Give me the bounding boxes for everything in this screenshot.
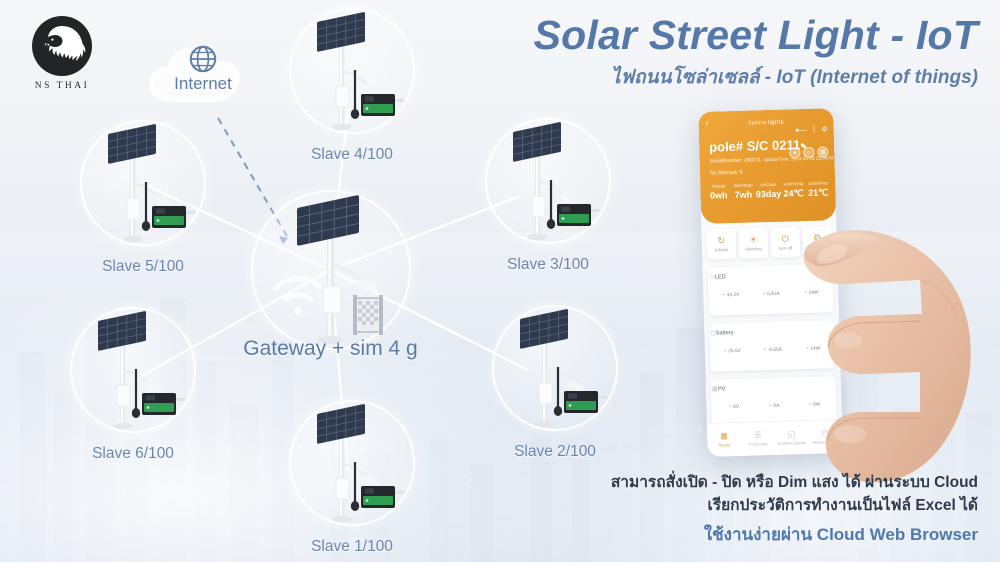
- gateway-node[interactable]: Gateway + sim 4 g: [243, 190, 418, 370]
- nav-status[interactable]: ▦ Status: [707, 432, 741, 448]
- slave-art: [277, 400, 427, 540]
- controller-board-icon: [361, 486, 404, 508]
- stat-charge: charge0wh: [706, 183, 731, 202]
- card-values: ⚭0V ⚭0A ⚭0W: [713, 402, 834, 410]
- dimming-icon: ☀: [749, 235, 757, 244]
- battery-icon: ◫: [710, 330, 716, 337]
- current-icon: ⚭: [768, 404, 772, 409]
- network-diagram: Internet: [0, 0, 660, 562]
- slave-node-2[interactable]: Slave 2/100: [480, 305, 630, 475]
- slave-node-5[interactable]: Slave 5/100: [68, 120, 218, 290]
- led-icon: ☃: [709, 274, 715, 281]
- card-battery[interactable]: ◫ battery ⚭25.5V ⚭-0.55A ⚭14W: [709, 320, 835, 371]
- dimming-button[interactable]: ☀ dimming: [738, 228, 768, 259]
- slave-node-3[interactable]: Slave 3/100: [473, 118, 623, 288]
- globe-icon: [188, 44, 218, 74]
- card-title: battery: [716, 330, 733, 336]
- gear-icon[interactable]: ⚙: [821, 125, 828, 133]
- slave-label: Slave 6/100: [92, 445, 174, 463]
- voltage-icon: ⚭: [723, 349, 727, 354]
- wifi-icon: [276, 278, 320, 300]
- nav-parameter[interactable]: ☰ Parameter: [741, 431, 775, 447]
- stat-ambtemp: ambTemp21℃: [806, 180, 831, 199]
- internet-label: Internet: [140, 74, 266, 94]
- bottom-nav: ▦ Status ☰ Parameter ◱ Runtime Details ◴…: [707, 419, 843, 457]
- internet-node: Internet: [140, 30, 266, 114]
- poster-canvas: NS THAI Solar Street Light - IoT ไฟถนนโซ…: [0, 0, 1000, 562]
- page-subtitle: ไฟถนนโซล่าเซลล์ - IoT (Internet of thing…: [611, 62, 978, 92]
- controller-board-icon: [557, 204, 600, 226]
- bulb-icon[interactable]: ☼: [803, 147, 814, 158]
- stat-discharge: discharge7wh: [731, 182, 756, 201]
- power-icon: ⚭: [808, 403, 812, 408]
- card-values: ⚭33.2V ⚭0.41A ⚭14W: [710, 290, 831, 298]
- nav-historical-data[interactable]: ◴ Historical Data: [808, 429, 842, 445]
- slave-art: [58, 307, 208, 447]
- copy-line-3: ใช้งานง่ายผ่าน Cloud Web Browser: [611, 521, 978, 548]
- current-icon: ⚭: [762, 292, 766, 297]
- controller-board-icon: [564, 391, 607, 413]
- solar-icon: ▦: [712, 386, 718, 393]
- stat-rundays: runDays93day: [755, 182, 781, 201]
- refresh-icon: ↻: [717, 236, 725, 245]
- power-icon: ⚭: [804, 291, 808, 296]
- slave-label: Slave 5/100: [102, 258, 184, 276]
- slave-art: [68, 120, 218, 260]
- card-title: PV: [718, 386, 726, 392]
- gear-icon: ⚙: [813, 234, 821, 243]
- app-header: ‹ sunna lights ●— ⎰ ⚙ pole# S/C 0211✎ Se…: [698, 108, 836, 224]
- header-badges: ● ☼ ▦: [789, 146, 828, 158]
- slave-label: Slave 1/100: [311, 538, 393, 556]
- slave-label: Slave 4/100: [311, 146, 393, 164]
- current-icon: ⚭: [763, 348, 767, 353]
- slave-node-6[interactable]: Slave 6/100: [58, 307, 208, 477]
- phone-screen: ‹ sunna lights ●— ⎰ ⚙ pole# S/C 0211✎ Se…: [698, 108, 843, 457]
- signal-icon: ●—: [795, 126, 806, 133]
- battery-icon: ⎰: [810, 125, 817, 135]
- power-icon: ⚭: [805, 347, 809, 352]
- slave-art: [480, 305, 630, 445]
- grid-icon: ▦: [707, 432, 741, 441]
- chart-icon: ◱: [775, 430, 809, 439]
- stat-worktemp: workTemp24℃: [781, 181, 806, 200]
- slave-node-1[interactable]: Slave 1/100: [277, 400, 427, 562]
- status-icons: ●— ⎰ ⚙: [795, 124, 828, 135]
- slave-node-4[interactable]: Slave 4/100: [277, 8, 427, 178]
- list-icon: ☰: [741, 431, 775, 440]
- controller-board-icon: [152, 206, 195, 228]
- action-buttons: ↻ refresh ☀ dimming ⏻ turn off ⚙ setting…: [707, 226, 833, 259]
- slave-art: [473, 118, 623, 258]
- cabinet-icon: [353, 295, 383, 335]
- clock-icon: ◴: [808, 429, 842, 438]
- card-values: ⚭25.5V ⚭-0.55A ⚭14W: [712, 346, 833, 354]
- grid-icon[interactable]: ▦: [817, 146, 828, 157]
- gateway-art: [243, 190, 418, 355]
- location-icon[interactable]: ●: [789, 147, 800, 158]
- gateway-label: Gateway + sim 4 g: [243, 337, 418, 361]
- remark[interactable]: No Remark ✎: [710, 170, 743, 177]
- voltage-icon: ⚭: [722, 293, 726, 298]
- stats-row: charge0wh discharge7wh runDays93day work…: [706, 180, 830, 201]
- slave-label: Slave 3/100: [507, 256, 589, 274]
- nav-runtime-details[interactable]: ◱ Runtime Details: [775, 430, 809, 446]
- slave-art: [277, 8, 427, 148]
- card-title: LED: [715, 274, 726, 280]
- voltage-icon: ⚭: [728, 405, 732, 410]
- card-led[interactable]: ☃ LED ⚭33.2V ⚭0.41A ⚭14W: [708, 264, 834, 315]
- copy-line-1: สามารถสั่งเปิด - ปิด หรือ Dim แสง ได้ ผ่…: [611, 472, 978, 494]
- controller-board-icon: [142, 393, 185, 415]
- serial-number: SerialNumber: 290211: [710, 157, 762, 164]
- refresh-button[interactable]: ↻ refresh: [707, 229, 737, 260]
- phone-mockup: ‹ sunna lights ●— ⎰ ⚙ pole# S/C 0211✎ Se…: [698, 108, 843, 457]
- power-icon: ⏻: [782, 234, 789, 243]
- slave-label: Slave 2/100: [514, 443, 596, 461]
- controller-board-icon: [361, 94, 404, 116]
- turn-off-button[interactable]: ⏻ turn off: [770, 227, 800, 258]
- bottom-copy: สามารถสั่งเปิด - ปิด หรือ Dim แสง ได้ ผ่…: [611, 472, 978, 548]
- copy-line-2: เรียกประวัติการทำงานเป็นไฟล์ Excel ได้: [611, 495, 978, 517]
- settings-button[interactable]: ⚙ settings: [802, 226, 832, 257]
